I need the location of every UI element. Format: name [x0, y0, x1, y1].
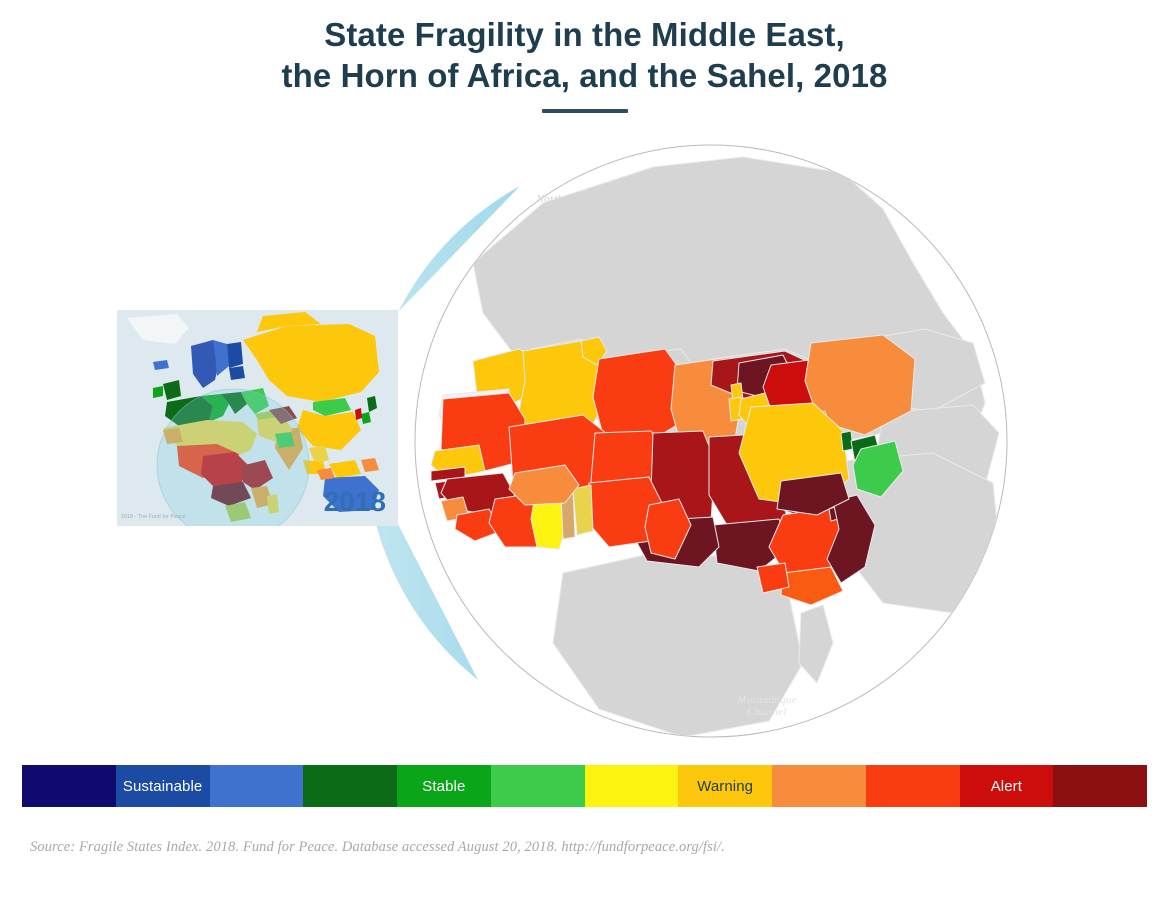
- magnified-globe-map[interactable]: [413, 143, 1009, 739]
- legend-segment-8[interactable]: [772, 765, 866, 807]
- inset-world-map[interactable]: 2018 2018 - The Fund for Peace: [117, 310, 398, 526]
- title-line-2: the Horn of Africa, and the Sahel, 2018: [0, 55, 1169, 96]
- page-title: State Fragility in the Middle East, the …: [0, 14, 1169, 113]
- legend-segment-9[interactable]: [866, 765, 960, 807]
- legend-segment-3[interactable]: [303, 765, 397, 807]
- infographic-canvas: State Fragility in the Middle East, the …: [0, 0, 1169, 898]
- legend-label-warning: Warning: [697, 778, 753, 795]
- legend-segment-7[interactable]: Warning: [678, 765, 772, 807]
- source-citation: Source: Fragile States Index. 2018. Fund…: [30, 839, 725, 856]
- label-mozambique-channel: MozambiqueChannel: [722, 694, 812, 718]
- label-north-sea: NorthSea: [520, 193, 580, 217]
- legend-segment-5[interactable]: [491, 765, 585, 807]
- inset-credit-text: 2018 - The Fund for Peace: [121, 514, 186, 520]
- legend-segment-0[interactable]: [22, 765, 116, 807]
- fragility-legend: Sustainable Stable Warning Alert: [22, 765, 1147, 807]
- legend-segment-2[interactable]: [210, 765, 304, 807]
- legend-segment-4[interactable]: Stable: [397, 765, 491, 807]
- legend-label-sustainable: Sustainable: [123, 778, 203, 795]
- legend-segment-1[interactable]: Sustainable: [116, 765, 210, 807]
- title-line-1: State Fragility in the Middle East,: [0, 14, 1169, 55]
- legend-label-stable: Stable: [422, 778, 465, 795]
- legend-segment-6[interactable]: [585, 765, 679, 807]
- inset-year-badge: 2018: [324, 486, 386, 518]
- legend-segment-11[interactable]: [1053, 765, 1147, 807]
- title-underline-rule: [542, 109, 628, 113]
- legend-segment-10[interactable]: Alert: [960, 765, 1054, 807]
- legend-label-alert: Alert: [991, 778, 1022, 795]
- globe-map-graphic: [413, 143, 1009, 739]
